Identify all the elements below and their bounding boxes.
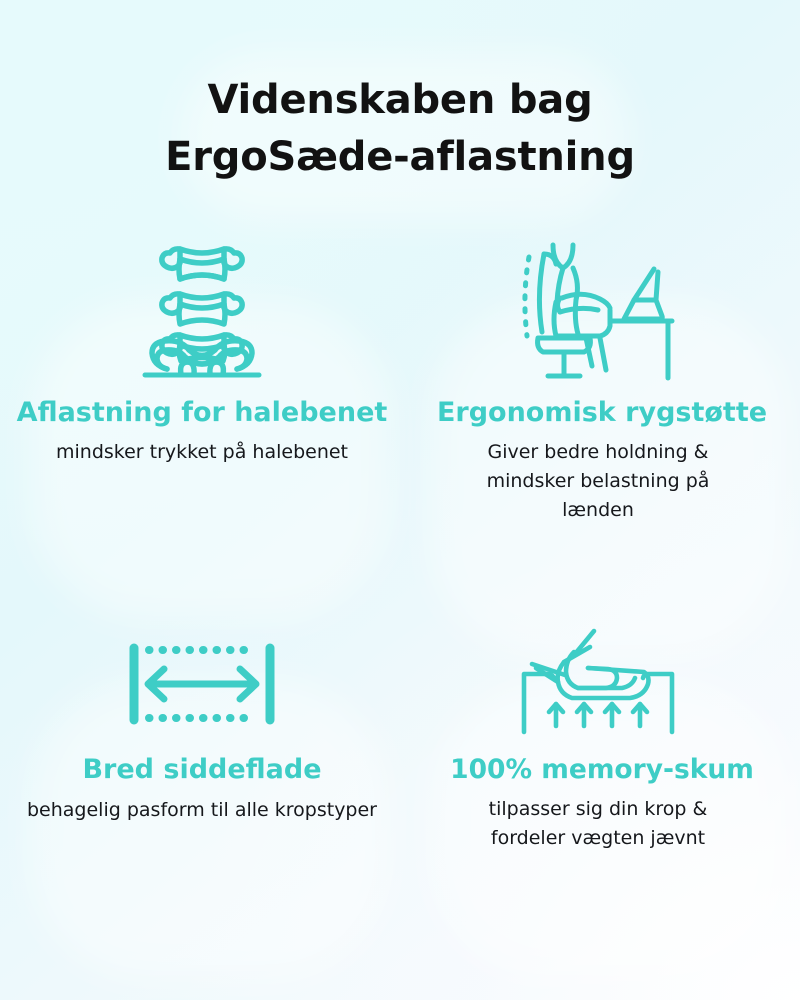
memory-foam-hand-press-icon — [513, 629, 683, 739]
feature-title-memory-foam: 100% memory-skum — [450, 753, 754, 786]
feature-grid: Aflastning for halebenet mindsker trykke… — [0, 186, 800, 1000]
feature-card-ergonomic-back-support: Ergonomisk rygstøtte Giver bedre holdnin… — [400, 186, 796, 593]
infographic-page: Videnskaben bag ErgoSæde-aflastning — [0, 0, 800, 1000]
feature-desc-tailbone-relief: mindsker trykket på halebenet — [56, 438, 348, 467]
feature-desc-memory-foam: tilpasser sig din krop & fordeler vægten… — [464, 795, 732, 853]
feature-desc-wide-seat: behagelig pasform til alle kropstyper — [27, 796, 377, 825]
feature-title-wide-seat: Bred siddeflade — [82, 753, 321, 787]
feature-desc-ergonomic-back-support: Giver bedre holdning & mindsker belastni… — [464, 438, 732, 525]
spine-tailbone-icon — [117, 232, 287, 382]
feature-title-ergonomic-back-support: Ergonomisk rygstøtte — [437, 396, 767, 430]
page-title-line-2: ErgoSæde-aflastning — [0, 129, 800, 186]
page-title: Videnskaben bag ErgoSæde-aflastning — [0, 0, 800, 186]
feature-title-tailbone-relief: Aflastning for halebenet — [17, 396, 388, 430]
page-title-line-1: Videnskaben bag — [0, 72, 800, 129]
feature-card-memory-foam: 100% memory-skum tilpasser sig din krop … — [400, 593, 796, 1000]
width-measure-arrow-icon — [117, 629, 287, 739]
feature-card-tailbone-relief: Aflastning for halebenet mindsker trykke… — [4, 186, 400, 593]
person-sitting-desk-chair-icon — [513, 232, 683, 382]
feature-card-wide-seat: Bred siddeflade behagelig pasform til al… — [4, 593, 400, 1000]
